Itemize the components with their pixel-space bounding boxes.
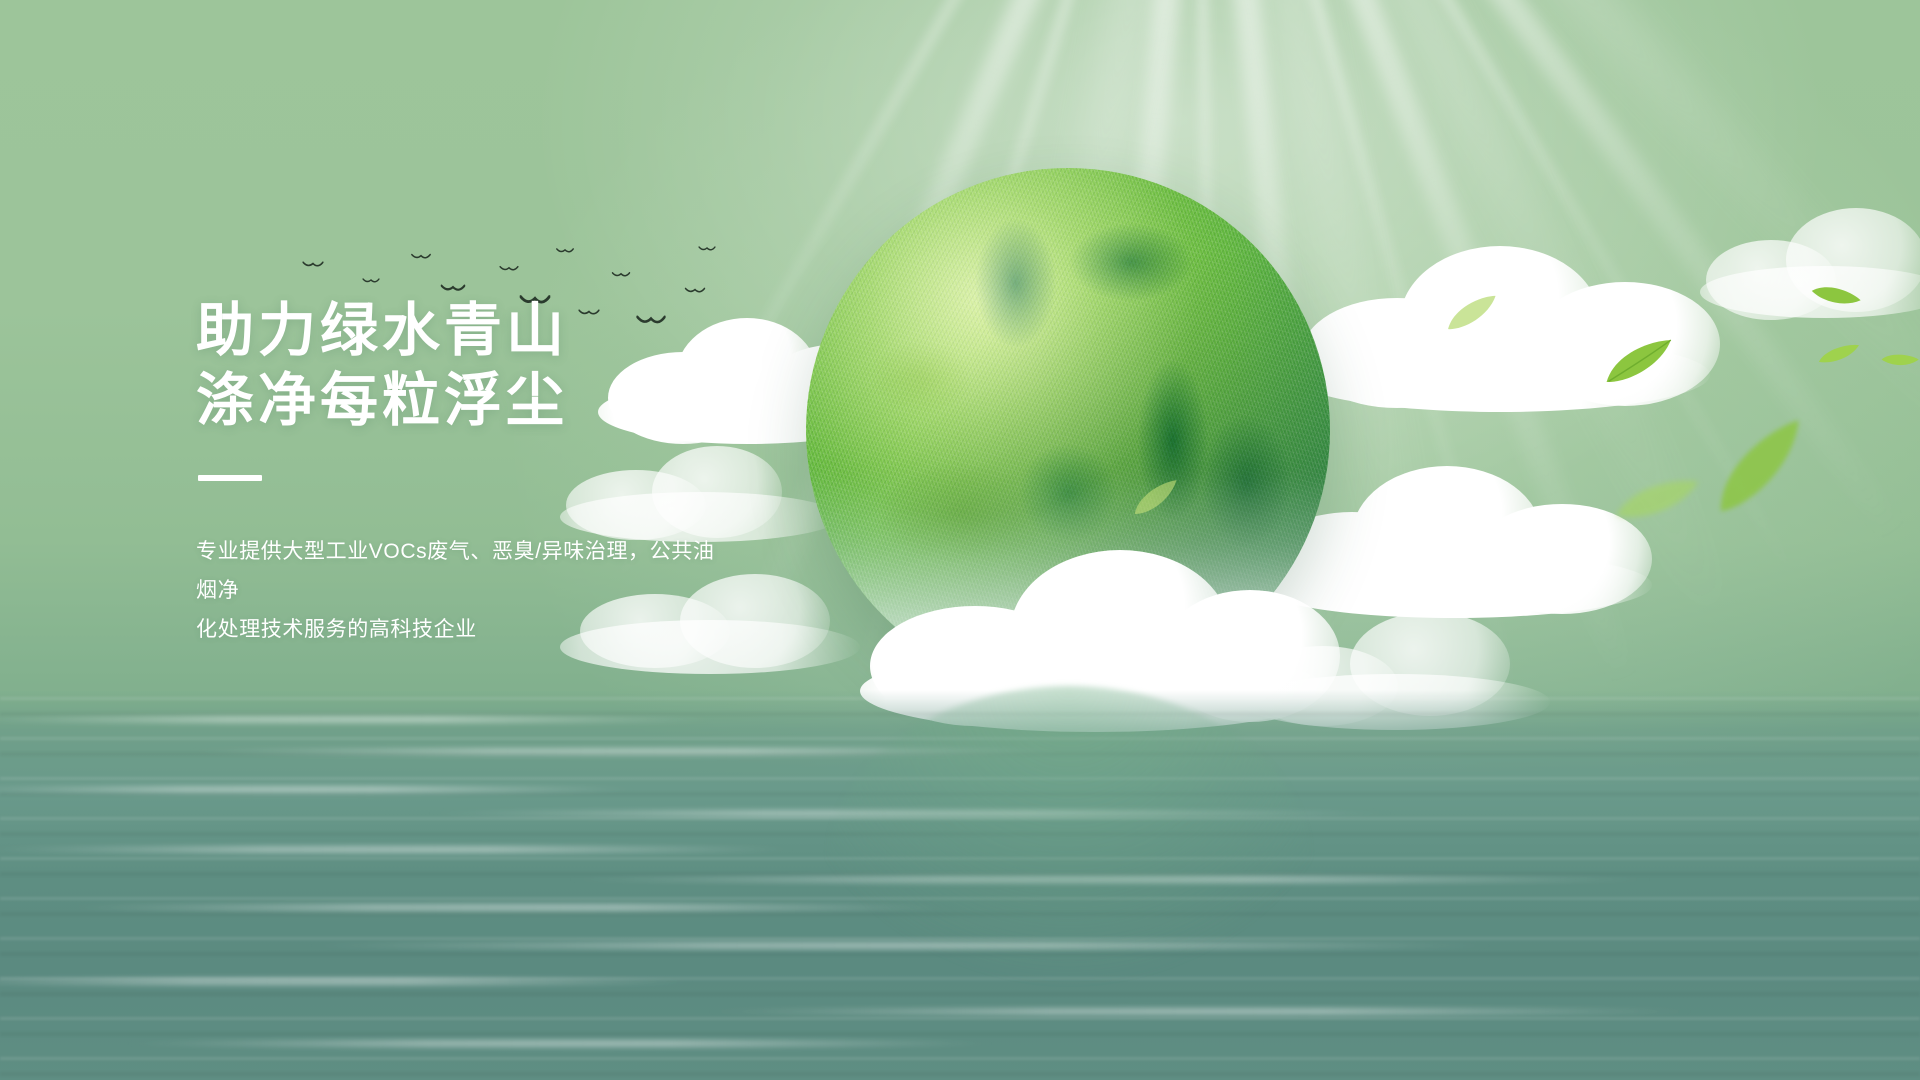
banner-copy: 助力绿水青山 涤净每粒浮尘 专业提供大型工业VOCs废气、恶臭/异味治理，公共油… xyxy=(196,296,976,650)
hero-banner: 助力绿水青山 涤净每粒浮尘 专业提供大型工业VOCs废气、恶臭/异味治理，公共油… xyxy=(0,0,1920,1080)
bird-icon xyxy=(441,284,465,296)
bird-icon xyxy=(302,261,323,271)
banner-description: 专业提供大型工业VOCs废气、恶臭/异味治理，公共油烟净 化处理技术服务的高科技… xyxy=(196,533,736,650)
bird-icon xyxy=(411,253,431,262)
leaf-icon xyxy=(1694,412,1825,523)
headline-line-1: 助力绿水青山 xyxy=(196,296,976,366)
bird-icon xyxy=(363,278,380,286)
leaf-icon xyxy=(1808,275,1864,318)
leaf-icon xyxy=(1610,475,1704,524)
page-title: 助力绿水青山 涤净每粒浮尘 xyxy=(196,296,976,435)
water-reflection xyxy=(0,690,1920,1080)
bird-icon xyxy=(612,272,630,281)
lede-line-1: 专业提供大型工业VOCs废气、恶臭/异味治理，公共油烟净 xyxy=(196,533,736,611)
cloud-right xyxy=(1290,228,1720,418)
leaf-icon xyxy=(1879,347,1920,372)
headline-line-2: 涤净每粒浮尘 xyxy=(196,366,976,436)
leaf-icon xyxy=(1815,342,1863,366)
title-divider xyxy=(198,475,262,481)
leaf-icon xyxy=(1439,291,1504,336)
leaf-icon xyxy=(1597,334,1682,390)
bird-icon xyxy=(499,266,518,275)
cloud-far-right xyxy=(1700,196,1920,326)
bird-icon xyxy=(556,248,574,256)
bird-icon xyxy=(699,246,716,254)
lede-line-2: 化处理技术服务的高科技企业 xyxy=(196,611,736,650)
